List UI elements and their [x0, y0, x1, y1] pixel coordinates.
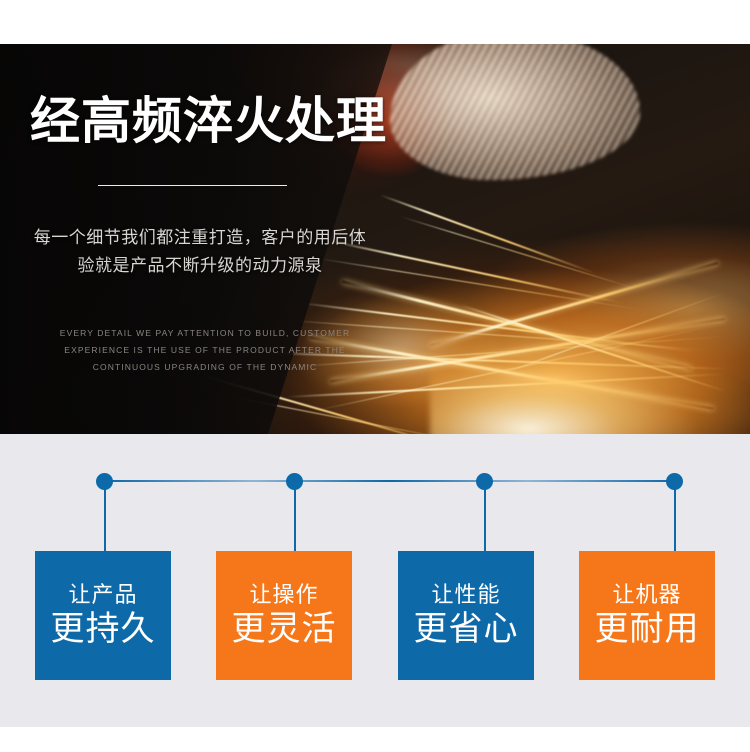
hero-divider-line — [98, 185, 287, 186]
feature-band: 让产品 更持久 让操作 更灵活 让性能 更省心 让机器 更耐用 — [0, 434, 750, 727]
connector-dot-1 — [96, 473, 113, 490]
bottom-white-margin — [0, 727, 750, 752]
feature-cards: 让产品 更持久 让操作 更灵活 让性能 更省心 让机器 更耐用 — [0, 551, 750, 680]
hero-banner: 经高频淬火处理 每一个细节我们都注重打造，客户的用后体验就是产品不断升级的动力源… — [0, 44, 750, 434]
feature-card-1-bottom: 更持久 — [51, 610, 156, 649]
feature-card-1[interactable]: 让产品 更持久 — [35, 551, 171, 680]
connector-dot-4 — [666, 473, 683, 490]
connector-horizontal-line — [105, 480, 675, 482]
connector-vertical-line-3 — [484, 481, 486, 551]
feature-card-2-top: 让操作 — [249, 582, 318, 607]
feature-card-1-top: 让产品 — [68, 582, 137, 607]
feature-card-3-top: 让性能 — [431, 582, 500, 607]
connector-vertical-line-2 — [294, 481, 296, 551]
feature-card-4-bottom: 更耐用 — [595, 610, 700, 649]
hero-title: 经高频淬火处理 — [30, 96, 387, 146]
hero-subtitle: 每一个细节我们都注重打造，客户的用后体验就是产品不断升级的动力源泉 — [28, 224, 372, 279]
feature-card-3-bottom: 更省心 — [414, 610, 519, 649]
connector-dot-2 — [286, 473, 303, 490]
feature-card-2-bottom: 更灵活 — [232, 610, 337, 649]
connector-vertical-line-4 — [674, 481, 676, 551]
connector-dot-3 — [476, 473, 493, 490]
feature-card-4-top: 让机器 — [612, 582, 681, 607]
product-feature-page: 经高频淬火处理 每一个细节我们都注重打造，客户的用后体验就是产品不断升级的动力源… — [0, 0, 750, 752]
connector-vertical-line-1 — [104, 481, 106, 551]
hero-english-caption: EVERY DETAIL WE PAY ATTENTION TO BUILD, … — [44, 325, 366, 376]
feature-card-2[interactable]: 让操作 更灵活 — [216, 551, 352, 680]
feature-card-3[interactable]: 让性能 更省心 — [398, 551, 534, 680]
top-white-margin — [0, 0, 750, 44]
hero-copy: 经高频淬火处理 每一个细节我们都注重打造，客户的用后体验就是产品不断升级的动力源… — [0, 44, 400, 434]
feature-card-4[interactable]: 让机器 更耐用 — [579, 551, 715, 680]
